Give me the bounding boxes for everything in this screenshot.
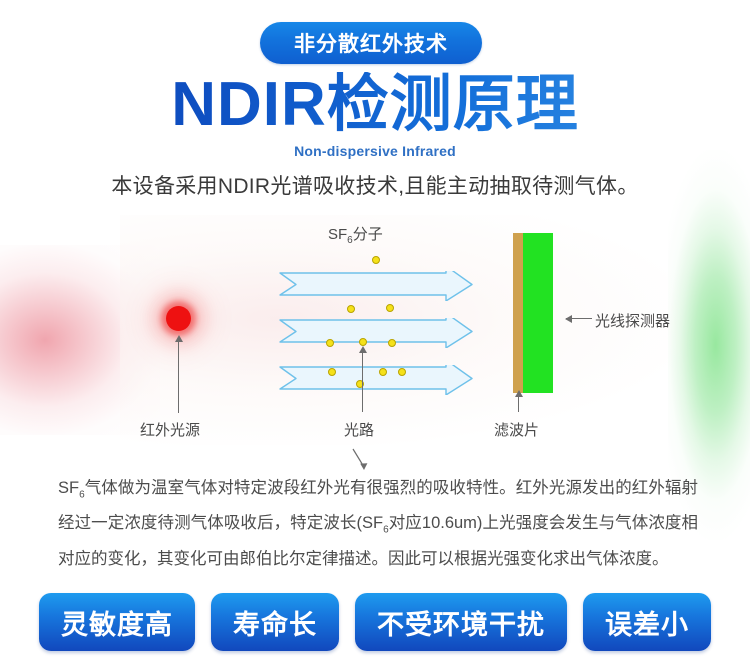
section-badge-label: 非分散红外技术: [294, 28, 448, 58]
feature-button-label: 灵敏度高: [61, 603, 173, 642]
feature-button-error[interactable]: 误差小: [583, 593, 711, 651]
gas-molecule: [398, 368, 406, 376]
ndir-principle-page: 非分散红外技术 NDIR检测原理 Non-dispersive Infrared…: [0, 0, 750, 669]
page-title: NDIR检测原理: [0, 72, 750, 139]
feature-button-label: 不受环境干扰: [377, 603, 545, 642]
infrared-source-dot: [166, 306, 191, 331]
gas-molecule: [328, 368, 336, 376]
page-subtitle-english: Non-dispersive Infrared: [0, 143, 750, 159]
description-paragraph: SF6气体做为温室气体对特定波段红外光有很强烈的吸收特性。红外光源发出的红外辐射…: [58, 474, 698, 573]
light-path-callout-arrow: [362, 352, 363, 412]
ir-source-callout-arrow: [178, 341, 179, 413]
filter-callout-arrow: [518, 396, 519, 412]
gas-molecule: [386, 304, 394, 312]
gas-molecule: [379, 368, 387, 376]
label-sf6-prefix: SF: [328, 226, 347, 243]
feature-button-label: 寿命长: [233, 603, 317, 642]
feature-button-lifespan[interactable]: 寿命长: [211, 593, 339, 651]
feature-button-row: 灵敏度高 寿命长 不受环境干扰 误差小: [0, 591, 750, 653]
section-badge: 非分散红外技术: [260, 22, 482, 64]
feature-button-sensitivity[interactable]: 灵敏度高: [39, 593, 195, 651]
light-detector-strip: [523, 233, 553, 393]
light-beam-2: [278, 318, 474, 348]
light-beam-3: [278, 365, 474, 395]
label-detector: 光线探测器: [595, 310, 670, 331]
gas-molecule: [359, 338, 367, 346]
feature-button-label: 误差小: [605, 603, 689, 642]
label-filter: 滤波片: [494, 419, 539, 440]
detector-callout-arrow: [566, 318, 592, 319]
gas-molecule: [347, 305, 355, 313]
paragraph-segment-1: SF: [58, 479, 79, 497]
page-lead-text: 本设备采用NDIR光谱吸收技术,且能主动抽取待测气体。: [0, 170, 750, 200]
label-light-path: 光路: [344, 419, 374, 440]
gas-molecule: [372, 256, 380, 264]
label-sf6-suffix: 分子: [353, 226, 383, 243]
feature-button-interference[interactable]: 不受环境干扰: [355, 593, 567, 651]
label-ir-source: 红外光源: [140, 419, 200, 440]
label-sf6-molecule: SF6分子: [328, 223, 383, 246]
gas-molecule: [326, 339, 334, 347]
sf6-pointer-arrow: [352, 448, 370, 474]
light-beam-1: [278, 271, 474, 301]
gas-molecule: [388, 339, 396, 347]
optical-filter-strip: [513, 233, 523, 393]
